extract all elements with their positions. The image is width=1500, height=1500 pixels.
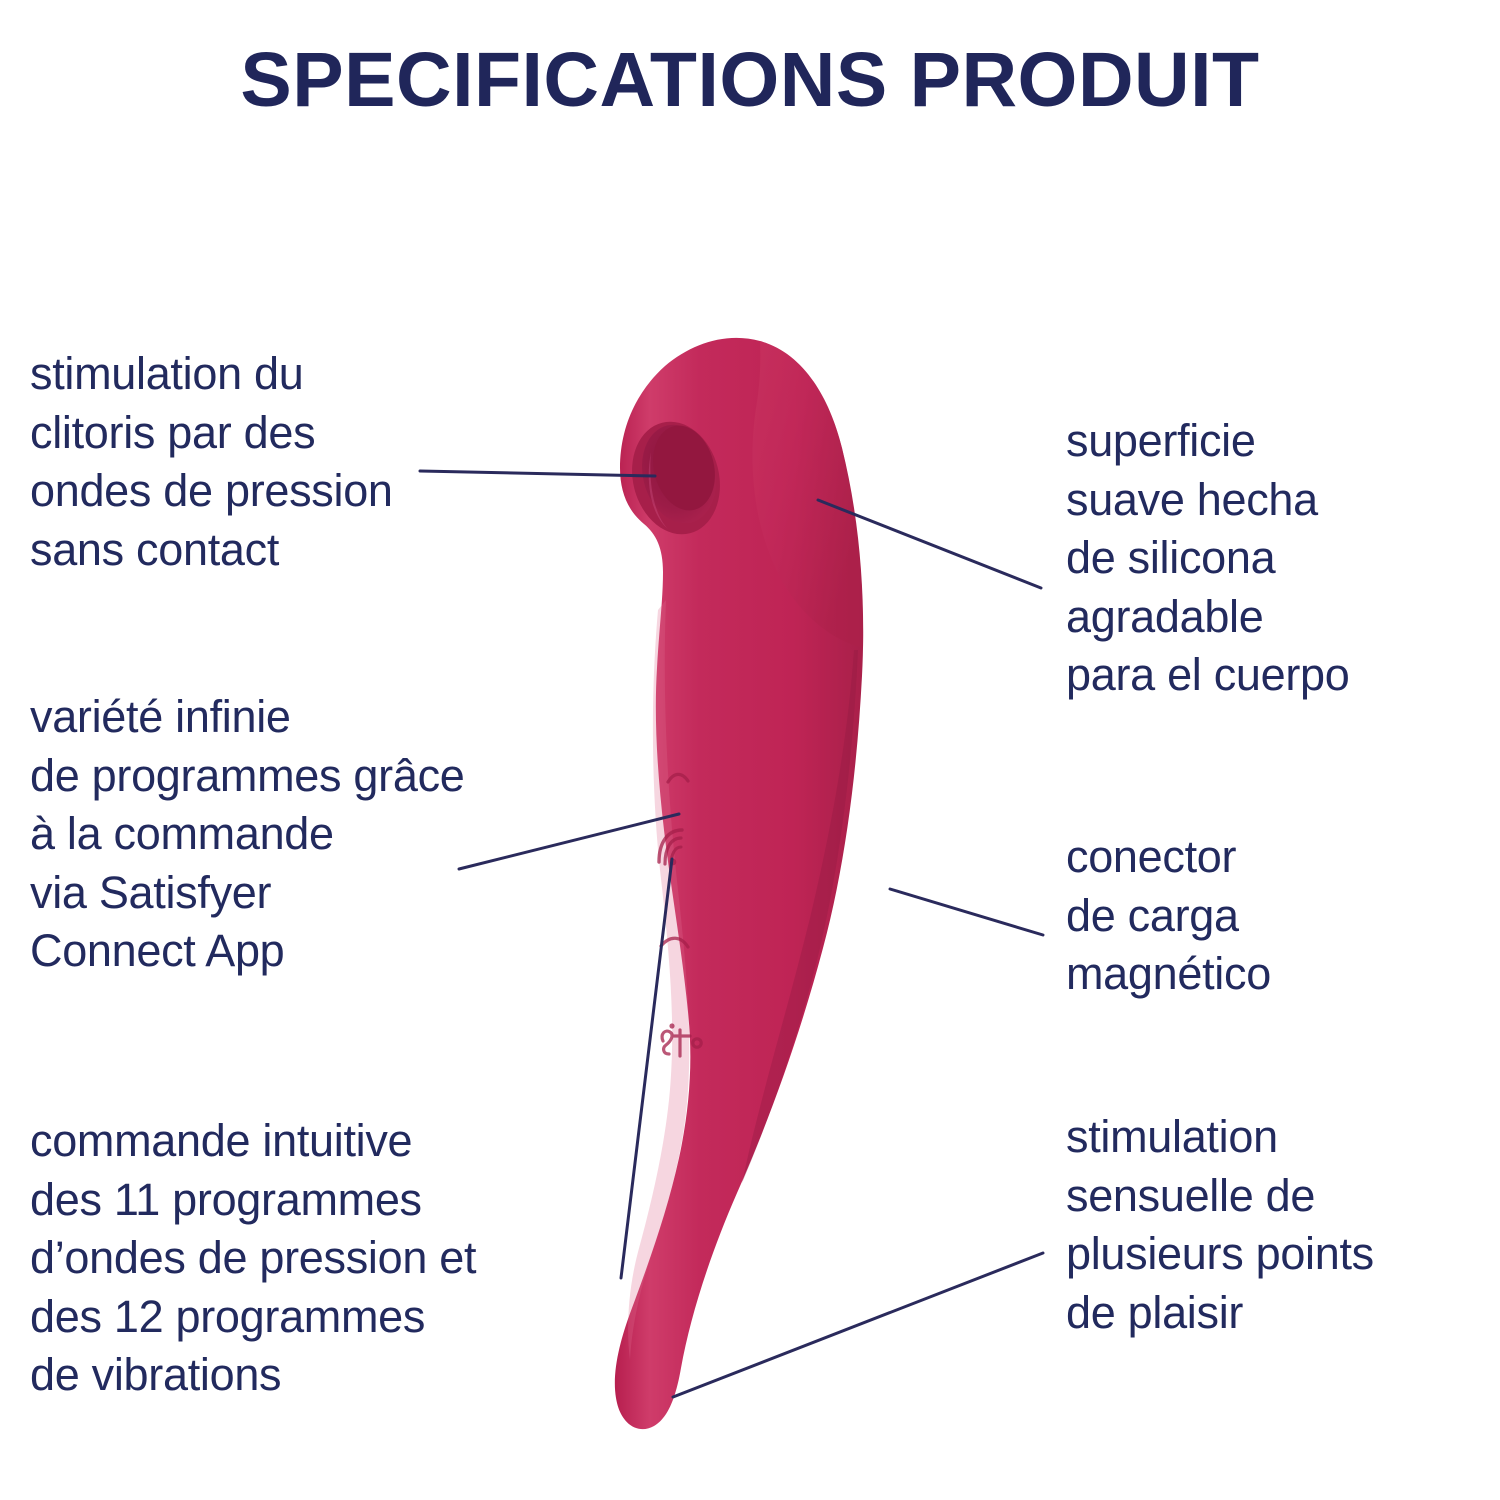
callout-line: magnético bbox=[1066, 945, 1271, 1004]
callout-line: de vibrations bbox=[30, 1346, 476, 1405]
callout-line: de programmes grâce bbox=[30, 747, 465, 806]
callout-line: plusieurs points bbox=[1066, 1225, 1374, 1284]
callout-line: sensuelle de bbox=[1066, 1167, 1374, 1226]
callout-line: à la commande bbox=[30, 805, 465, 864]
callout-line: sans contact bbox=[30, 521, 393, 580]
callout-silicone: superficie suave hecha de silicona agrad… bbox=[1066, 412, 1350, 705]
callout-line: via Satisfyer bbox=[30, 864, 465, 923]
callout-line: Connect App bbox=[30, 922, 465, 981]
callout-app-control: variété infinie de programmes grâce à la… bbox=[30, 688, 465, 981]
callout-line: suave hecha bbox=[1066, 471, 1350, 530]
callout-line: superficie bbox=[1066, 412, 1350, 471]
leader-line-pleasure bbox=[673, 1253, 1043, 1397]
callout-line: ondes de pression bbox=[30, 462, 393, 521]
callout-line: de silicona bbox=[1066, 529, 1350, 588]
callout-line: des 12 programmes bbox=[30, 1288, 476, 1347]
callout-line: d’ondes de pression et bbox=[30, 1229, 476, 1288]
callout-pressure-waves: stimulation du clitoris par des ondes de… bbox=[30, 345, 393, 579]
callout-pleasure: stimulation sensuelle de plusieurs point… bbox=[1066, 1108, 1374, 1342]
callout-line: conector bbox=[1066, 828, 1271, 887]
callout-line: de carga bbox=[1066, 887, 1271, 946]
product-specification-infographic: SPECIFICATIONS PRODUIT bbox=[0, 0, 1500, 1500]
leader-line-charger bbox=[890, 889, 1043, 935]
callout-line: stimulation bbox=[1066, 1108, 1374, 1167]
callout-programs: commande intuitive des 11 programmes d’o… bbox=[30, 1112, 476, 1405]
callout-line: clitoris par des bbox=[30, 404, 393, 463]
callout-line: variété infinie bbox=[30, 688, 465, 747]
callout-line: stimulation du bbox=[30, 345, 393, 404]
leader-line-silicone bbox=[818, 500, 1041, 588]
callout-line: des 11 programmes bbox=[30, 1171, 476, 1230]
leader-line-app-control bbox=[459, 814, 679, 869]
leader-line-pressure-waves bbox=[420, 471, 655, 476]
callout-line: agradable bbox=[1066, 588, 1350, 647]
callout-line: para el cuerpo bbox=[1066, 646, 1350, 705]
callout-line: de plaisir bbox=[1066, 1284, 1374, 1343]
leader-line-programs bbox=[621, 859, 672, 1278]
callout-charger: conector de carga magnético bbox=[1066, 828, 1271, 1004]
callout-line: commande intuitive bbox=[30, 1112, 476, 1171]
